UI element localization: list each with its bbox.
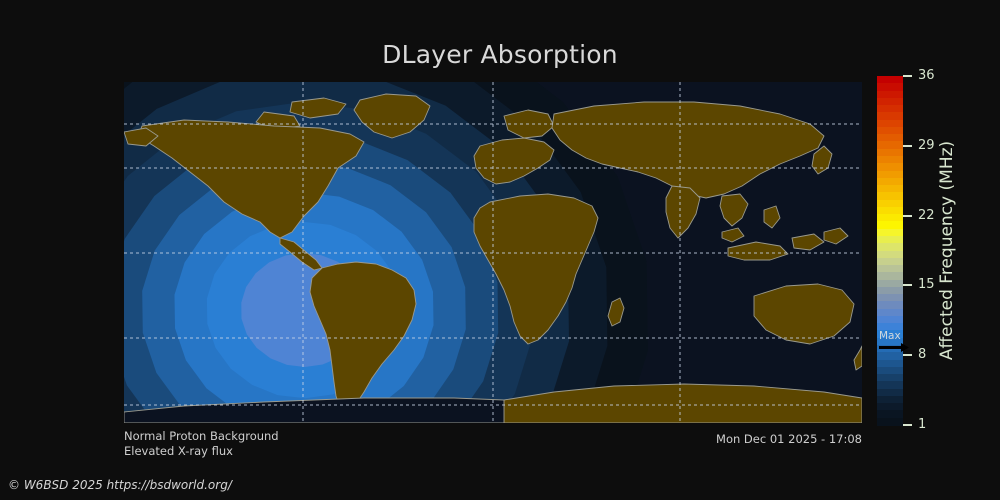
colorbar-band bbox=[877, 418, 903, 426]
colorbar-tick-label: 29 bbox=[918, 137, 935, 154]
colorbar-tick-mark bbox=[903, 424, 912, 426]
colorbar-tick-label: 8 bbox=[918, 346, 926, 363]
colorbar-tick-mark bbox=[903, 215, 912, 217]
colorbar-gradient bbox=[877, 76, 903, 425]
colorbar-tick-label: 15 bbox=[918, 276, 935, 293]
caption-xray-flux: Elevated X-ray flux bbox=[124, 444, 279, 459]
max-marker: Max bbox=[879, 331, 913, 353]
page-title: DLayer Absorption bbox=[0, 40, 1000, 69]
footer-credit: © W6BSD 2025 https://bsdworld.org/ bbox=[8, 478, 232, 492]
caption-proton-background: Normal Proton Background bbox=[124, 429, 279, 444]
max-marker-label: Max bbox=[879, 331, 901, 342]
colorbar-tick-mark bbox=[903, 75, 912, 77]
colorbar[interactable] bbox=[877, 76, 903, 425]
max-arrow-icon bbox=[879, 343, 909, 352]
colorbar-tick-mark bbox=[903, 284, 912, 286]
timestamp: Mon Dec 01 2025 - 17:08 bbox=[716, 432, 862, 446]
colorbar-tick-label: 1 bbox=[918, 416, 926, 433]
colorbar-tick-mark bbox=[903, 145, 912, 147]
map-canvas bbox=[124, 82, 862, 423]
colorbar-tick-label: 36 bbox=[918, 67, 935, 84]
colorbar-tick-label: 22 bbox=[918, 207, 935, 224]
world-map[interactable] bbox=[124, 82, 862, 423]
status-captions: Normal Proton Background Elevated X-ray … bbox=[124, 429, 279, 459]
colorbar-tick-mark bbox=[903, 354, 912, 356]
colorbar-axis-label: Affected Frequency (MHz) bbox=[934, 76, 960, 425]
dlayer-absorption-page: DLayer Absorption bbox=[0, 0, 1000, 500]
